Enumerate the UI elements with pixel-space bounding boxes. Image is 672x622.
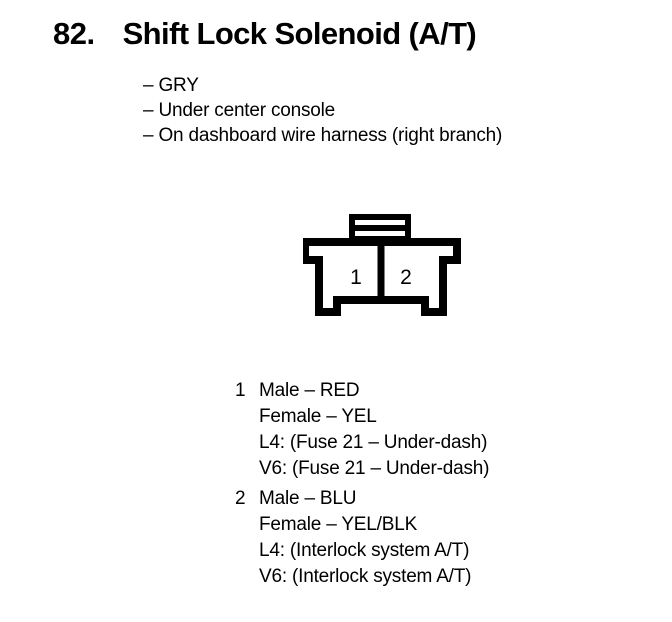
list-item: – Under center console — [143, 98, 663, 123]
pin-entry-lines: Male – BLU Female – YEL/BLK L4: (Interlo… — [259, 486, 655, 590]
pin-detail-line: Male – RED — [259, 378, 655, 404]
connector-locking-tab — [349, 214, 411, 242]
list-item: – On dashboard wire harness (right branc… — [143, 123, 663, 148]
pin-detail-line: V6: (Fuse 21 – Under-dash) — [259, 456, 655, 482]
pin-legend-entry: 1 Male – RED Female – YEL L4: (Fuse 21 –… — [235, 378, 655, 482]
connector-outline-icon: 1 2 — [303, 212, 479, 332]
connector-diagram: 1 2 — [303, 212, 479, 332]
pin-detail-line: Male – BLU — [259, 486, 655, 512]
title-row: 82. Shift Lock Solenoid (A/T) — [0, 18, 672, 49]
pin-1-label: 1 — [350, 266, 362, 289]
pin-entry-number: 2 — [235, 486, 259, 512]
pin-detail-line: L4: (Fuse 21 – Under-dash) — [259, 430, 655, 456]
list-item: – GRY — [143, 73, 663, 98]
component-details-list: – GRY – Under center console – On dashbo… — [143, 73, 663, 148]
pin-legend-entry: 2 Male – BLU Female – YEL/BLK L4: (Inter… — [235, 486, 655, 590]
pin-detail-line: Female – YEL/BLK — [259, 512, 655, 538]
pin-legend: 1 Male – RED Female – YEL L4: (Fuse 21 –… — [235, 378, 655, 594]
pin-entry-number: 1 — [235, 378, 259, 404]
item-number: 82. — [53, 18, 95, 49]
page-header: 82. Shift Lock Solenoid (A/T) — [0, 18, 672, 49]
pin-detail-line: V6: (Interlock system A/T) — [259, 564, 655, 590]
pin-detail-line: Female – YEL — [259, 404, 655, 430]
pin-2-label: 2 — [400, 266, 412, 289]
pin-detail-line: L4: (Interlock system A/T) — [259, 538, 655, 564]
page-title: Shift Lock Solenoid (A/T) — [123, 18, 477, 49]
pin-entry-lines: Male – RED Female – YEL L4: (Fuse 21 – U… — [259, 378, 655, 482]
